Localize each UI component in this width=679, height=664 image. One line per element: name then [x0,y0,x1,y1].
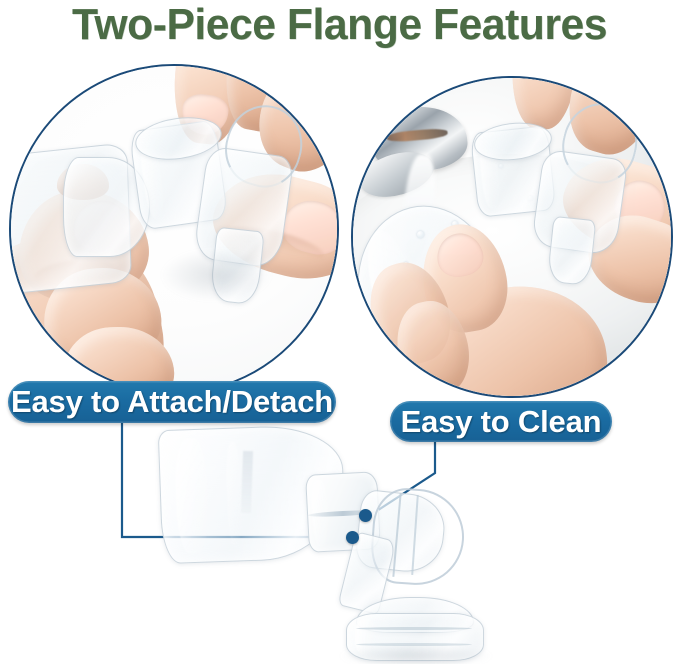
badge-easy-to-clean[interactable]: Easy to Clean [390,401,612,442]
dot-flange-seam [359,509,372,522]
product-funnel-highlight [174,437,211,554]
infographic-root: Two-Piece Flange Features [0,0,679,664]
product-bottle-thread-line-1 [356,627,472,630]
dot-connector-body [346,531,359,544]
badge-easy-to-attach-detach-label: Easy to Attach/Detach [11,384,333,420]
product-ground-shadow [338,645,494,664]
badge-easy-to-attach-detach[interactable]: Easy to Attach/Detach [8,381,336,423]
badge-easy-to-clean-label: Easy to Clean [401,404,602,440]
product-funnel-highlight-2 [225,442,243,548]
